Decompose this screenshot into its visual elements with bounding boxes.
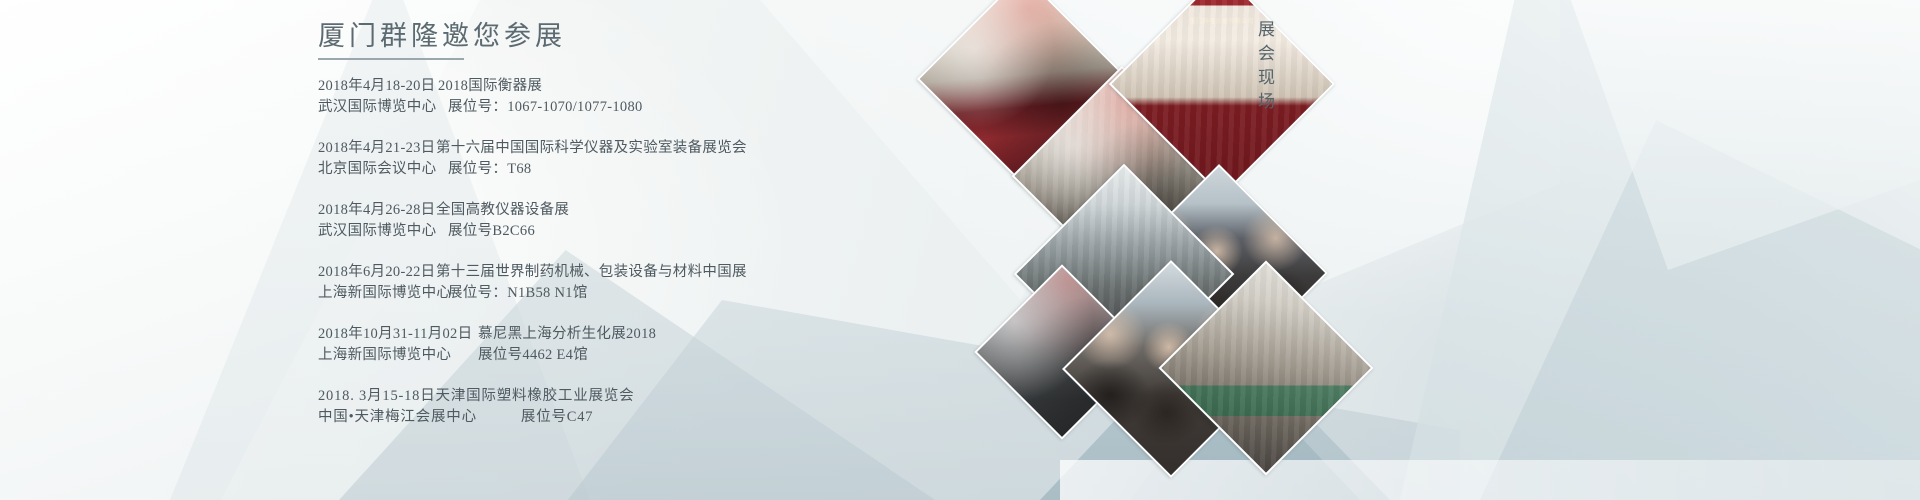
photo-collage: 密度计&水分仪中国总代 厦门群隆仪器有限公司 [1030, 0, 1450, 500]
exhibition-entry: 2018年4月18-20日 2018国际衡器展 武汉国际博览中心 展位号：106… [318, 76, 958, 118]
exhibition-date: 2018年4月26-28日 [318, 200, 436, 221]
exhibition-row-secondary: 中国•天津梅江会展中心 展位号C47 [318, 407, 958, 428]
collage-vertical-label: 展会现场 [1252, 20, 1277, 116]
exhibition-row-primary: 2018. 3月15-18日天津国际塑料橡胶工业展览会 [318, 386, 958, 407]
exhibition-venue: 北京国际会议中心 [318, 159, 448, 180]
exhibition-venue: 上海新国际博览中心 [318, 283, 448, 304]
exhibition-venue: 上海新国际博览中心 [318, 345, 478, 366]
exhibition-booth: 展位号：N1B58 N1馆 [448, 283, 588, 304]
exhibition-entry: 2018年10月31-11月02日 慕尼黑上海分析生化展2018 上海新国际博览… [318, 324, 958, 366]
title-underline [318, 58, 464, 60]
exhibition-entry: 2018年6月20-22日 第十三届世界制药机械、包装设备与材料中国展 上海新国… [318, 262, 958, 304]
exhibition-row-primary: 2018年10月31-11月02日 慕尼黑上海分析生化展2018 [318, 324, 958, 345]
exhibition-name: 第十三届世界制药机械、包装设备与材料中国展 [436, 262, 747, 283]
exhibition-row-primary: 2018年4月18-20日 2018国际衡器展 [318, 76, 958, 97]
exhibition-name: 全国高教仪器设备展 [436, 200, 569, 221]
exhibition-row-secondary: 上海新国际博览中心 展位号4462 E4馆 [318, 345, 958, 366]
promo-banner: 厦门群隆邀您参展 2018年4月18-20日 2018国际衡器展 武汉国际博览中… [0, 0, 1920, 500]
exhibition-row-secondary: 武汉国际博览中心 展位号B2C66 [318, 221, 958, 242]
exhibition-name: 慕尼黑上海分析生化展2018 [478, 324, 656, 345]
exhibition-venue: 武汉国际博览中心 [318, 97, 448, 118]
exhibition-row-secondary: 北京国际会议中心 展位号：T68 [318, 159, 958, 180]
exhibition-date: 2018年10月31-11月02日 [318, 324, 478, 345]
exhibition-booth: 展位号B2C66 [448, 221, 535, 242]
exhibition-booth: 展位号4462 E4馆 [478, 345, 588, 366]
exhibition-venue: 武汉国际博览中心 [318, 221, 448, 242]
page-title: 厦门群隆邀您参展 [318, 20, 958, 52]
exhibition-entry: 2018年4月21-23日 第十六届中国国际科学仪器及实验室装备展览会 北京国际… [318, 138, 958, 180]
exhibition-date: 2018年6月20-22日 [318, 262, 436, 283]
exhibition-name: 2018国际衡器展 [438, 76, 542, 97]
exhibition-booth: 展位号：T68 [448, 159, 531, 180]
exhibition-entry: 2018. 3月15-18日天津国际塑料橡胶工业展览会 中国•天津梅江会展中心 … [318, 386, 958, 428]
exhibition-row-primary: 2018年6月20-22日 第十三届世界制药机械、包装设备与材料中国展 [318, 262, 958, 283]
exhibition-row-primary: 2018年4月26-28日 全国高教仪器设备展 [318, 200, 958, 221]
exhibition-name: 第十六届中国国际科学仪器及实验室装备展览会 [436, 138, 747, 159]
exhibition-row-secondary: 上海新国际博览中心 展位号：N1B58 N1馆 [318, 283, 958, 304]
exhibition-row-secondary: 武汉国际博览中心 展位号：1067-1070/1077-1080 [318, 97, 958, 118]
exhibition-venue: 中国•天津梅江会展中心 [318, 407, 477, 428]
exhibition-entry: 2018年4月26-28日 全国高教仪器设备展 武汉国际博览中心 展位号B2C6… [318, 200, 958, 242]
exhibition-date: 2018. 3月15-18日天津国际塑料橡胶工业展览会 [318, 386, 634, 407]
exhibition-booth: 展位号C47 [521, 407, 593, 428]
exhibition-row-primary: 2018年4月21-23日 第十六届中国国际科学仪器及实验室装备展览会 [318, 138, 958, 159]
exhibition-date: 2018年4月18-20日 [318, 76, 438, 97]
exhibition-date: 2018年4月21-23日 [318, 138, 436, 159]
exhibition-list-panel: 厦门群隆邀您参展 2018年4月18-20日 2018国际衡器展 武汉国际博览中… [318, 20, 958, 448]
exhibition-booth: 展位号：1067-1070/1077-1080 [448, 97, 643, 118]
